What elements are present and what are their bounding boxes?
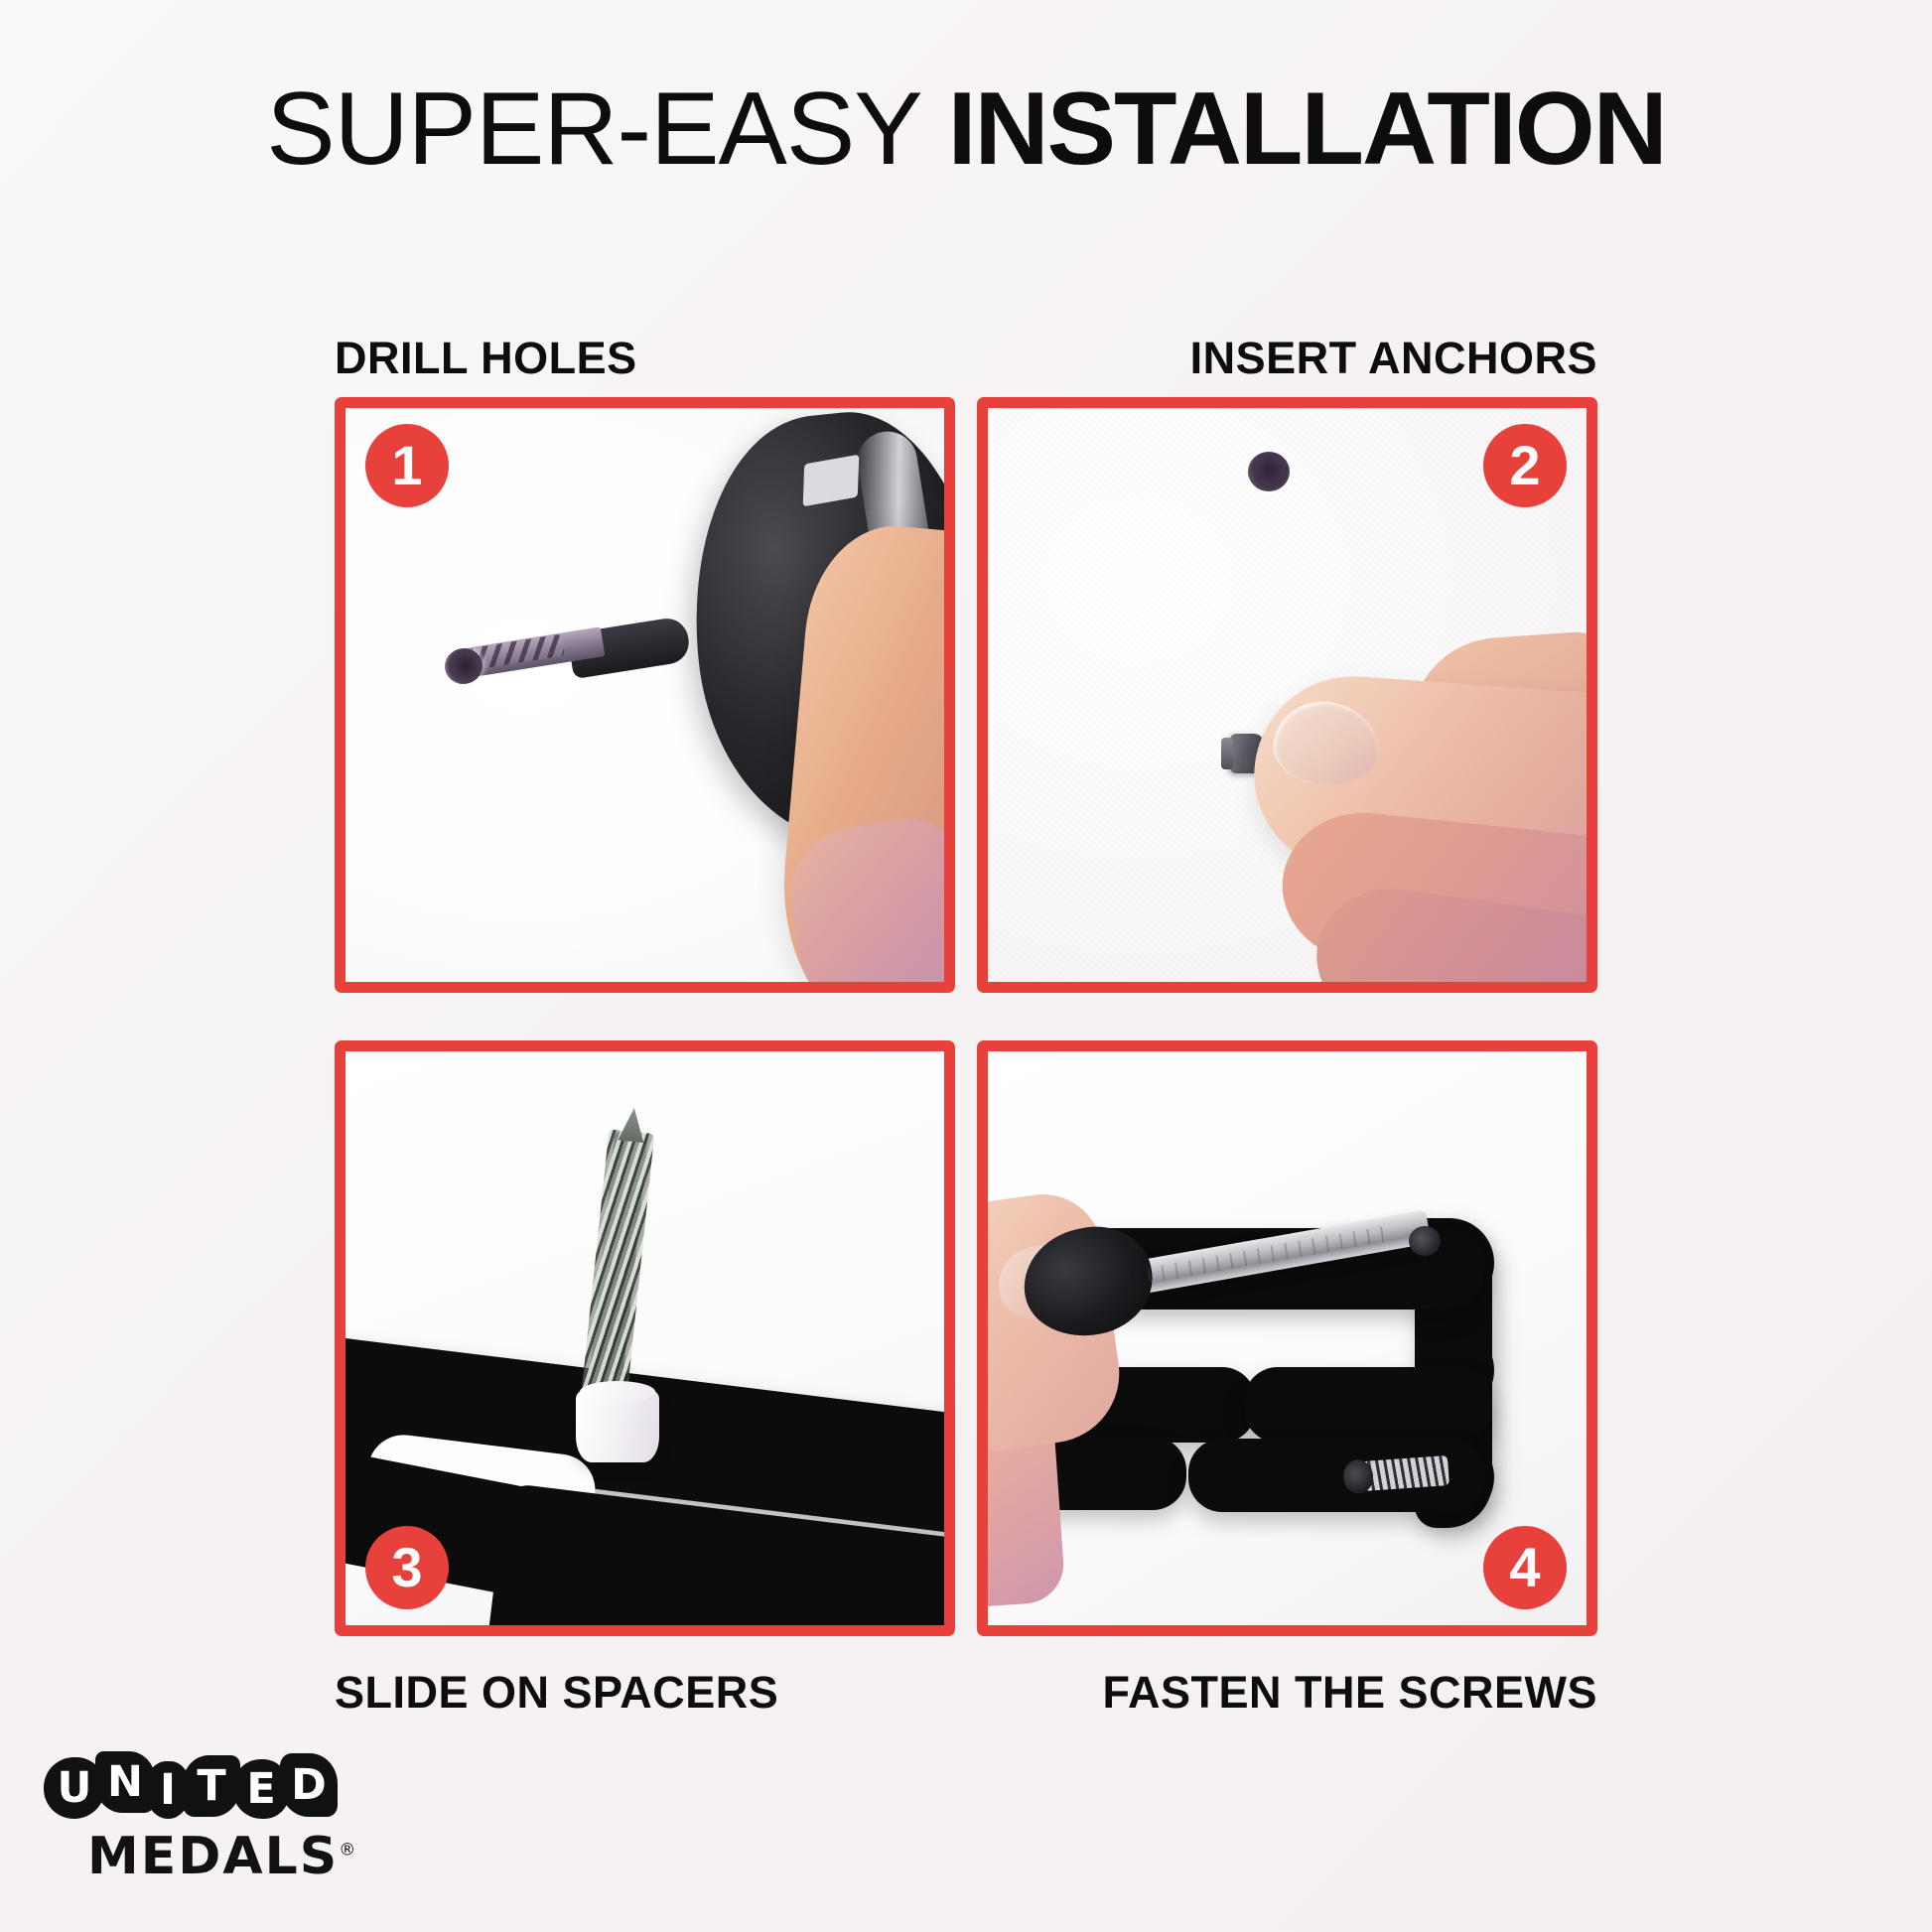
step-panel-2: 2 xyxy=(977,397,1597,993)
step-panel-3: 3 xyxy=(335,1040,955,1636)
hanger-rail xyxy=(1244,1367,1492,1443)
white-spacer xyxy=(576,1389,659,1462)
registered-trademark-icon: ® xyxy=(339,1841,357,1861)
logo-medals-text: MEDALS xyxy=(87,1827,339,1886)
title-bold-part: INSTALLATION xyxy=(948,71,1666,187)
logo-medals-wordmark: MEDALS® xyxy=(87,1831,357,1882)
step-badge-1: 1 xyxy=(365,424,449,507)
step-caption-2: INSERT ANCHORS xyxy=(977,336,1597,380)
screw-lower xyxy=(1362,1455,1449,1491)
step-caption-4: FASTEN THE SCREWS xyxy=(977,1670,1597,1715)
page-title: SUPER-EASY INSTALLATION xyxy=(0,77,1932,181)
title-light-part: SUPER-EASY xyxy=(266,71,947,187)
brand-logo: U N I T E D MEDALS® xyxy=(42,1749,340,1898)
step-panel-4: 4 xyxy=(977,1040,1597,1636)
step-badge-4: 4 xyxy=(1483,1526,1567,1609)
step-panel-1: 1 xyxy=(335,397,955,993)
step-caption-1: DRILL HOLES xyxy=(335,336,637,380)
screw-head-upper xyxy=(1409,1226,1441,1256)
drilled-hole-upper xyxy=(1248,452,1290,491)
screw-shaft xyxy=(1362,1455,1449,1491)
logo-united-wordmark: U N I T E D xyxy=(42,1749,340,1827)
installation-steps-grid: 1 2 xyxy=(335,397,1597,1636)
step-badge-2: 2 xyxy=(1483,424,1567,507)
logo-letter-blob: D xyxy=(280,1753,338,1817)
step-badge-3: 3 xyxy=(365,1526,449,1609)
step-caption-3: SLIDE ON SPACERS xyxy=(335,1670,778,1715)
